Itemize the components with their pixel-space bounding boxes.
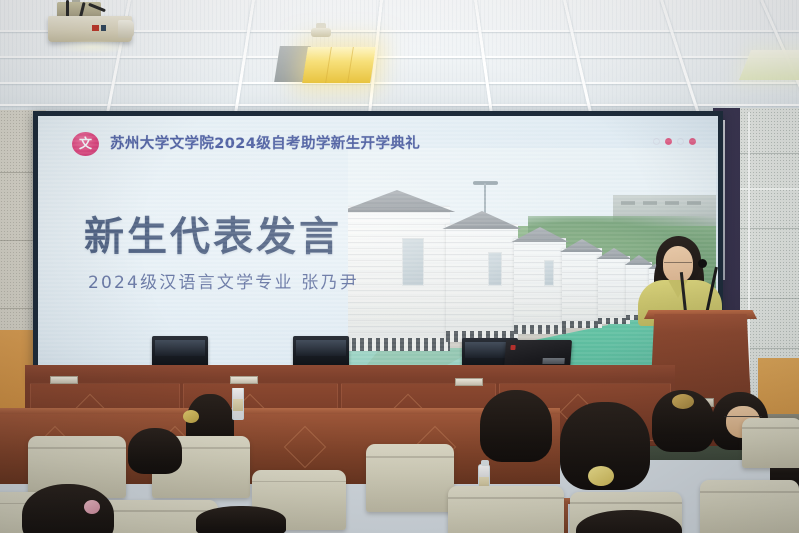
slide-main-title: 新生代表发言 [84,204,342,262]
microphone-icon [698,259,707,268]
projection-screen[interactable]: 文 苏州大学文学院2024级自考助学新生开学典礼 新生代表发言 2024级汉语言… [38,116,718,378]
bottle-label [233,399,243,411]
decoration-dot [689,138,696,145]
logo-glyph: 文 [79,138,92,151]
photo-cabin [348,206,450,351]
ceiling-light-panel [302,47,376,83]
wall-rail [740,188,799,190]
audience-chair[interactable] [448,486,564,533]
audience-area [0,388,799,533]
water-bottle [232,388,244,420]
laptop-indicator [510,345,515,350]
projection-screen-frame: 文 苏州大学文学院2024级自考助学新生开学典礼 新生代表发言 2024级汉语言… [33,111,723,383]
hair-scrunchie [672,394,694,409]
photo-cabin [514,238,566,334]
photo-cabin [562,248,602,328]
hair-scrunchie [588,466,614,486]
slide-dot-decoration [653,138,696,145]
audience-chair[interactable] [366,444,454,512]
projector-indicator-light [92,25,99,31]
desk-nameplate [50,376,78,384]
slide-header-title: 苏州大学文学院2024级自考助学新生开学典礼 [110,132,420,153]
audience-member [480,390,552,462]
desk-nameplate [230,376,258,384]
projector-glow [52,40,132,54]
decoration-dot [677,138,684,145]
audience-chair[interactable] [742,418,799,468]
ceiling-grid-line [0,104,799,106]
university-logo-icon: 文 [72,132,99,156]
hair-scrunchie [84,500,100,514]
ceiling-light-panel [739,50,799,80]
projector-indicator-light [101,25,106,31]
decoration-dot [653,138,660,145]
audience-member [128,428,182,474]
bottle-cap [481,460,489,466]
hair-scrunchie [183,410,199,423]
smoke-detector-icon [311,28,331,37]
desk-nameplate [455,378,483,386]
decoration-dot [665,138,672,145]
ceiling-grid-line [0,82,799,84]
monitor [293,336,349,368]
monitor [152,336,208,368]
speaker-glasses-icon [664,262,692,268]
audience-chair[interactable] [700,480,799,533]
ceiling [0,0,799,118]
photo-cabin [446,224,518,342]
slide-subtitle: 2024级汉语言文学专业 张乃尹 [88,268,359,293]
laptop-logo [542,358,564,364]
projector-lens [118,20,134,38]
audience-member [196,506,286,533]
auditorium-scene: 文 苏州大学文学院2024级自考助学新生开学典礼 新生代表发言 2024级汉语言… [0,0,799,533]
